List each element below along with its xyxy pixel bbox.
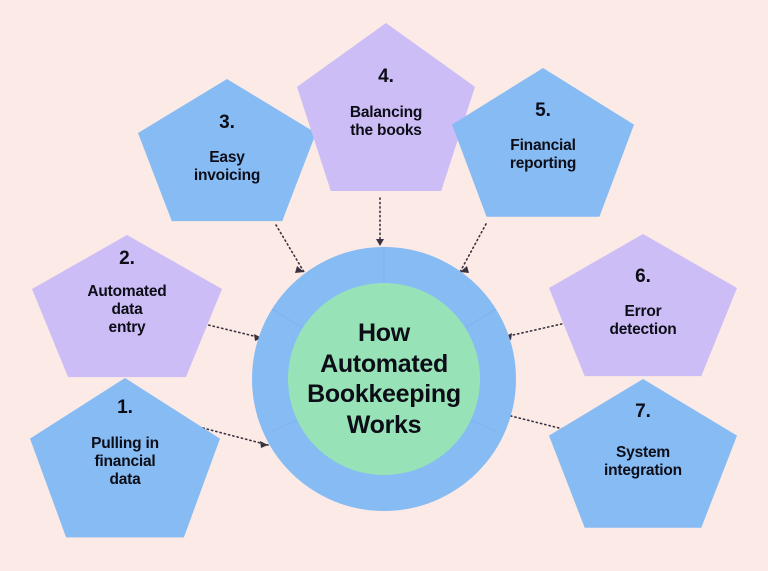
- node-pentagon-4[interactable]: 4. Balancing the books: [297, 23, 475, 198]
- node-2-number: 2.: [119, 249, 135, 268]
- arrowhead-node-3: [295, 266, 304, 273]
- node-2-label: Automated data entry: [87, 283, 166, 337]
- node-pentagon-6[interactable]: 6. Error detection: [549, 234, 737, 382]
- connector-node-5: [460, 224, 486, 272]
- arrowhead-node-4: [376, 239, 384, 246]
- node-pentagon-2[interactable]: 2. Automated data entry: [32, 235, 222, 383]
- node-4-label: Balancing the books: [350, 104, 422, 140]
- node-6-number: 6.: [635, 267, 651, 286]
- center-title: How Automated Bookkeeping Works: [301, 318, 467, 440]
- node-3-label: Easy invoicing: [194, 149, 260, 185]
- node-pentagon-7[interactable]: 7. System integration: [549, 379, 737, 534]
- node-5-label: Financial reporting: [510, 137, 576, 173]
- node-5-number: 5.: [535, 101, 551, 120]
- center-hub-core: How Automated Bookkeeping Works: [288, 283, 480, 475]
- arrowhead-node-1: [260, 441, 268, 448]
- node-1-label: Pulling in financial data: [91, 435, 159, 489]
- node-pentagon-5[interactable]: 5. Financial reporting: [452, 68, 634, 223]
- node-1-number: 1.: [117, 398, 133, 417]
- node-4-number: 4.: [378, 67, 394, 86]
- node-6-label: Error detection: [609, 303, 676, 339]
- connector-node-3: [276, 225, 304, 272]
- node-7-number: 7.: [635, 402, 651, 421]
- node-7-label: System integration: [604, 444, 682, 480]
- node-3-number: 3.: [219, 113, 235, 132]
- infographic-canvas: How Automated Bookkeeping Works 1. Pulli…: [0, 0, 768, 571]
- node-pentagon-3[interactable]: 3. Easy invoicing: [138, 79, 316, 227]
- node-pentagon-1[interactable]: 1. Pulling in financial data: [30, 378, 220, 544]
